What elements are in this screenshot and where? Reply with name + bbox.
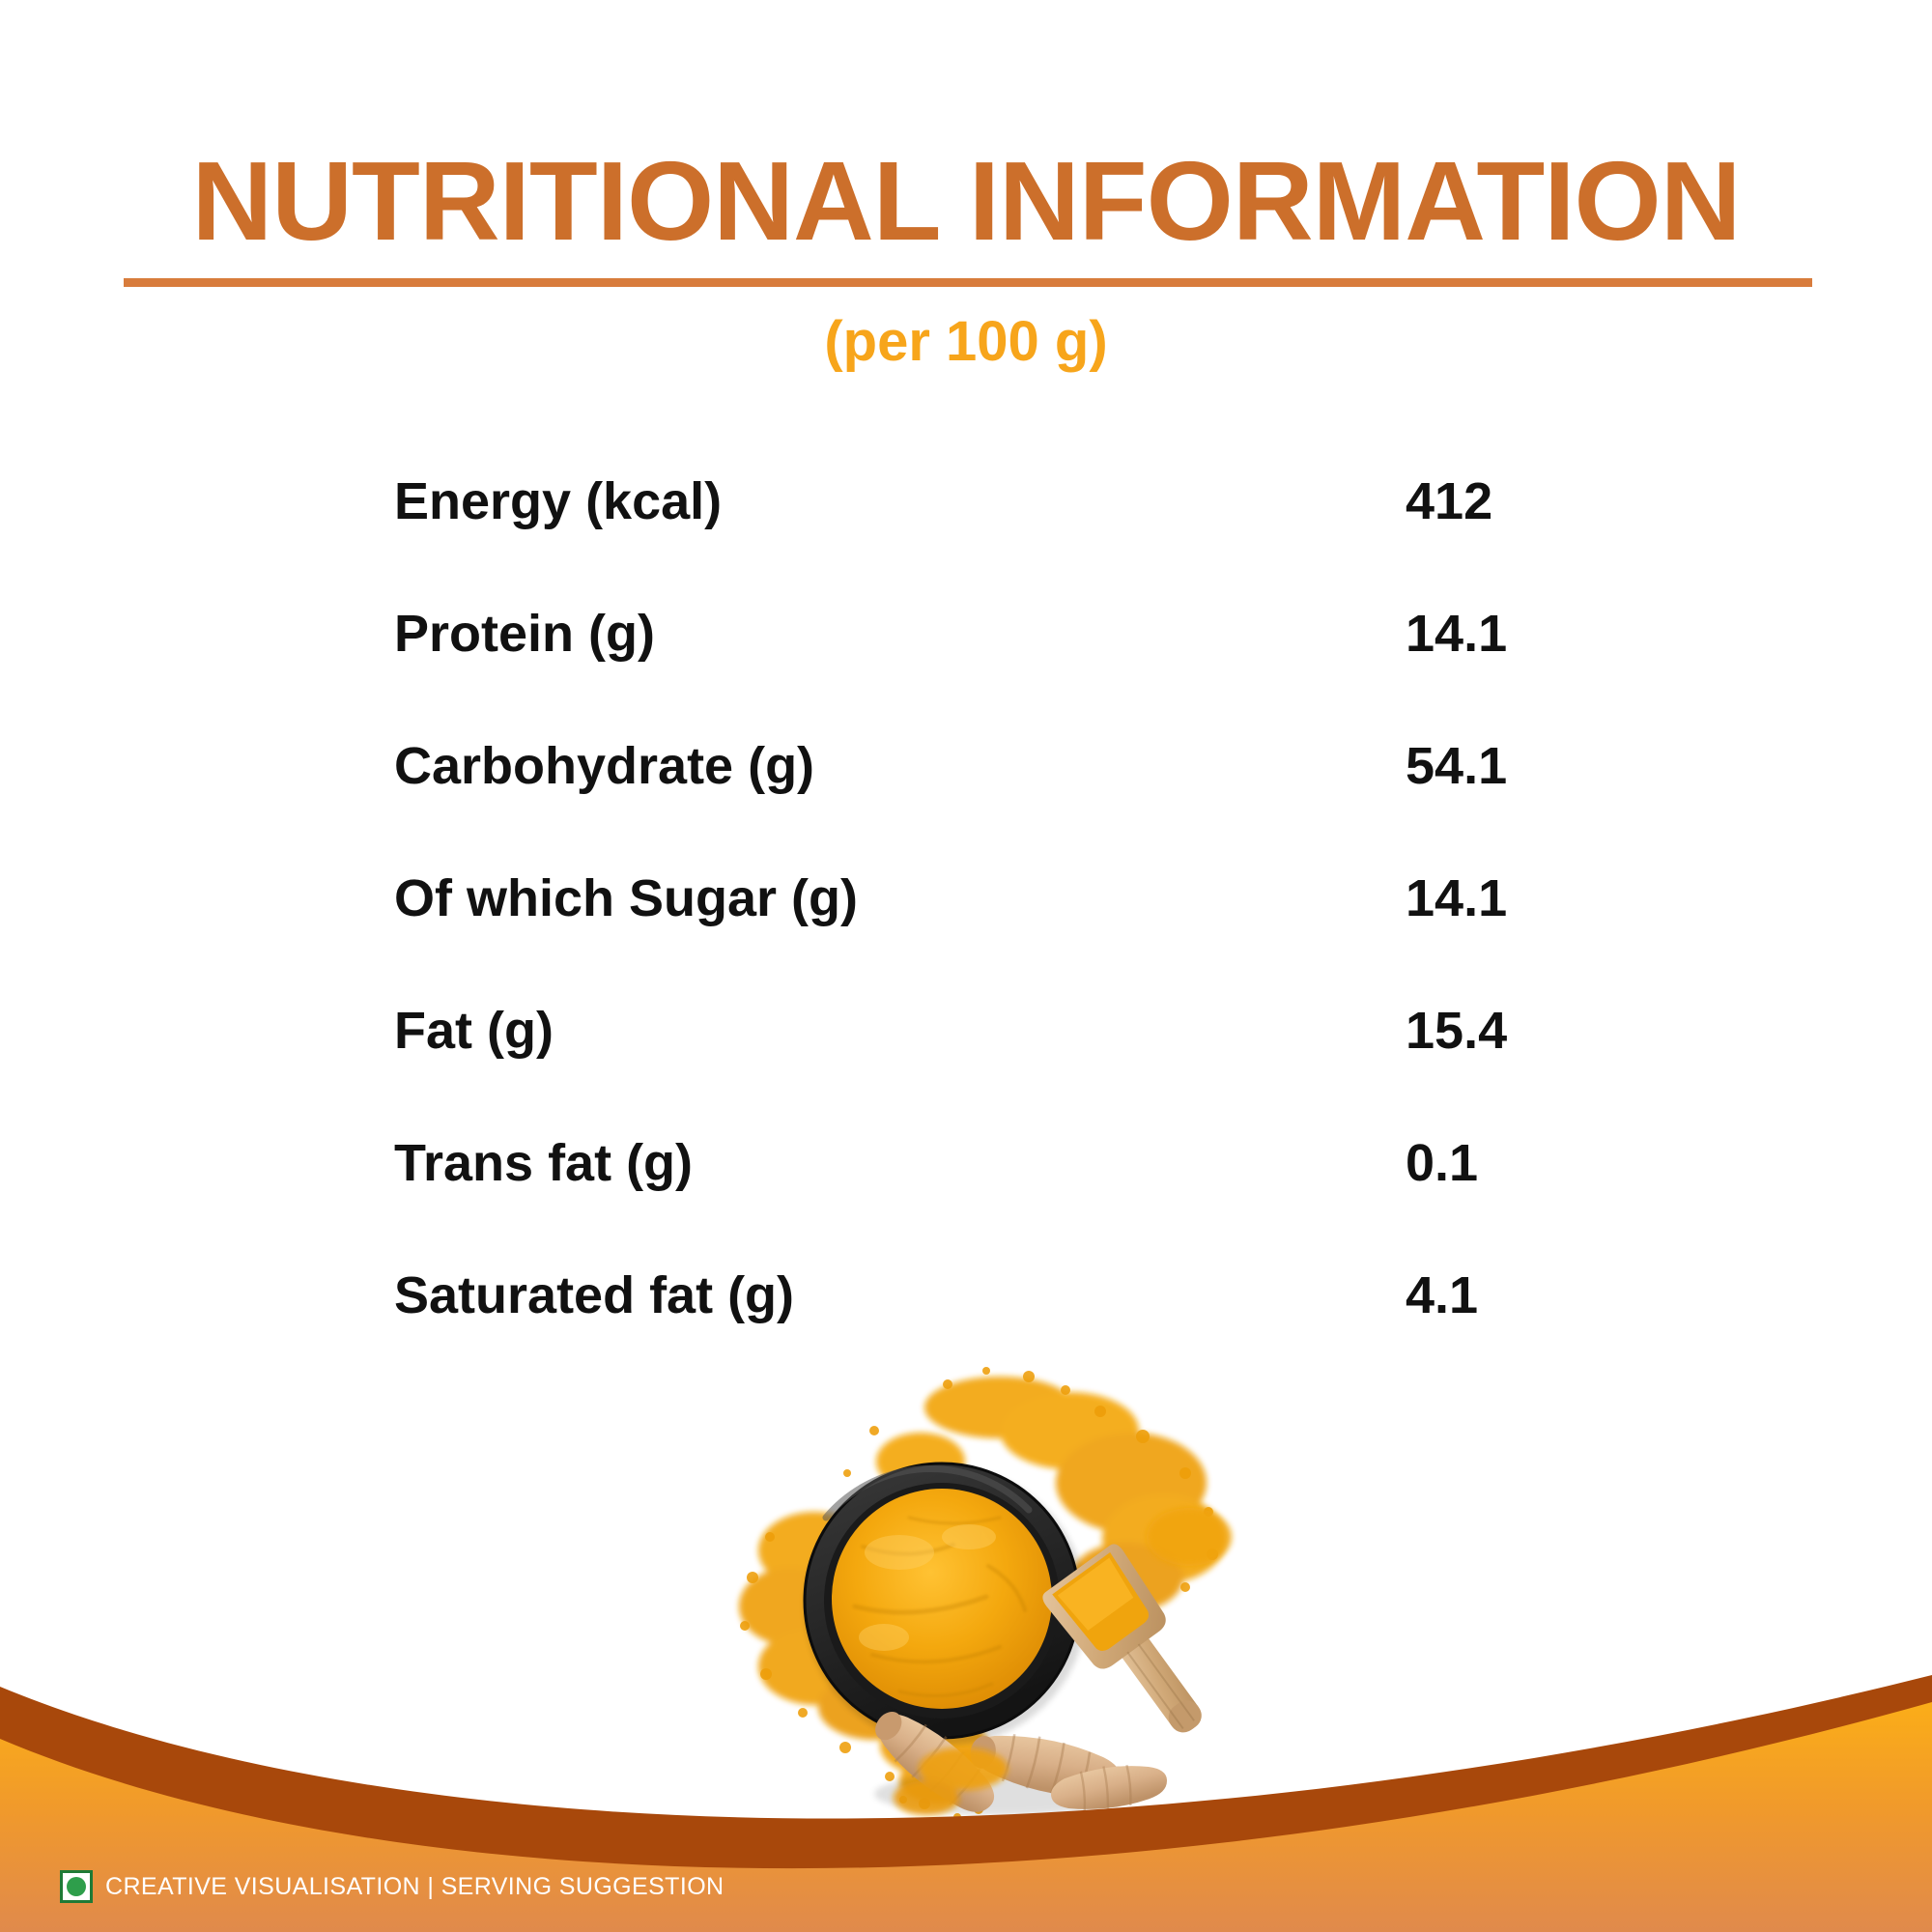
nutritional-information-card: NUTRITIONAL INFORMATION (per 100 g) Ener… [0,0,1932,1932]
nutrient-value: 54.1 [1406,740,1507,792]
nutrient-label: Fat (g) [394,1005,1406,1057]
nutrient-label: Protein (g) [394,608,1406,660]
footer-disclaimer-text: CREATIVE VISUALISATION | SERVING SUGGEST… [105,1875,724,1899]
footer: CREATIVE VISUALISATION | SERVING SUGGEST… [60,1870,724,1903]
nutrient-label: Energy (kcal) [394,475,1406,527]
nutrient-label: Carbohydrate (g) [394,740,1406,792]
nutrient-value: 14.1 [1406,608,1507,660]
page-title: NUTRITIONAL INFORMATION [0,145,1932,257]
table-row: Fat (g) 15.4 [394,1005,1611,1137]
nutrient-value: 412 [1406,475,1492,527]
nutrient-label: Of which Sugar (g) [394,872,1406,924]
turmeric-product-image [710,1348,1251,1831]
nutrition-table: Energy (kcal) 412 Protein (g) 14.1 Carbo… [394,475,1611,1402]
table-row: Of which Sugar (g) 14.1 [394,872,1611,1005]
page-subtitle: (per 100 g) [0,314,1932,370]
table-row: Protein (g) 14.1 [394,608,1611,740]
table-row: Trans fat (g) 0.1 [394,1137,1611,1269]
nutrient-value: 0.1 [1406,1137,1478,1189]
table-row: Carbohydrate (g) 54.1 [394,740,1611,872]
nutrient-label: Saturated fat (g) [394,1269,1406,1321]
nutrient-label: Trans fat (g) [394,1137,1406,1189]
vegetarian-dot [67,1877,86,1896]
table-row: Energy (kcal) 412 [394,475,1611,608]
nutrient-value: 15.4 [1406,1005,1507,1057]
title-underline [124,278,1812,287]
nutrient-value: 4.1 [1406,1269,1478,1321]
nutrient-value: 14.1 [1406,872,1507,924]
vegetarian-mark-icon [60,1870,93,1903]
